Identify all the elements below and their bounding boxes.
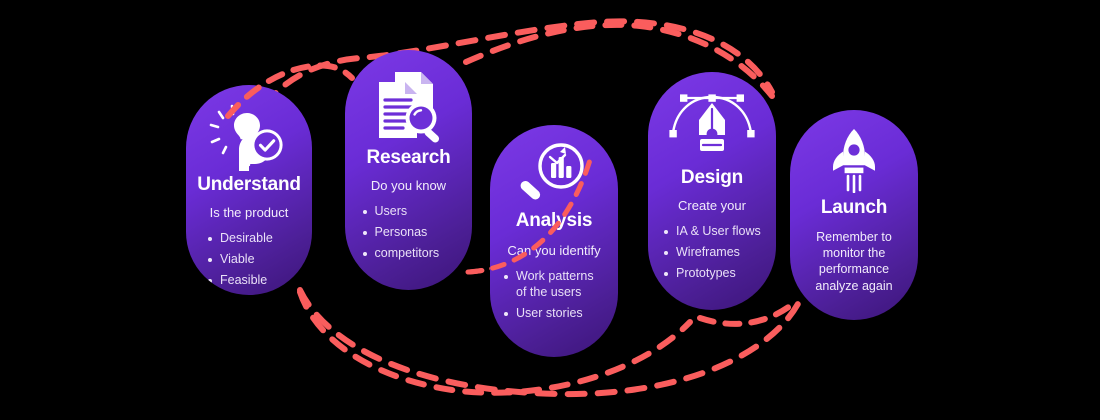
card-title: Analysis	[516, 211, 593, 232]
step-card-research[interactable]: Research Do you know Users Personas comp…	[345, 50, 472, 290]
list-item: Work patterns of the users	[502, 268, 606, 300]
card-title: Design	[681, 168, 743, 189]
lightbulb-head-check-icon	[186, 101, 312, 173]
card-title: Research	[367, 148, 451, 169]
magnifier-bar-chart-icon	[490, 143, 618, 205]
list-item: Desirable	[206, 230, 292, 246]
card-bullet-list: IA & User flows Wireframes Prototypes	[662, 223, 762, 281]
list-item: Feasible	[206, 272, 292, 288]
card-subtitle: Create your	[678, 198, 746, 214]
card-title: Launch	[821, 198, 887, 219]
list-item: competitors	[361, 245, 457, 261]
step-card-design[interactable]: Design Create your IA & User flows Wiref…	[648, 72, 776, 310]
list-item: IA & User flows	[662, 223, 762, 239]
list-item: User stories	[502, 305, 606, 321]
card-subtitle: Is the product	[210, 205, 289, 221]
card-subtitle: Do you know	[371, 178, 446, 194]
pen-nib-bezier-icon	[648, 88, 776, 166]
list-item: Users	[361, 203, 457, 219]
process-flow-diagram: Understand Is the product Desirable Viab…	[0, 0, 1100, 420]
card-bullet-list: Work patterns of the users User stories	[502, 268, 606, 321]
documents-magnifier-icon	[345, 68, 472, 146]
card-title: Understand	[197, 175, 301, 196]
list-item: Personas	[361, 224, 457, 240]
step-card-understand[interactable]: Understand Is the product Desirable Viab…	[186, 85, 312, 295]
step-card-launch[interactable]: Launch Remember to monitor the performan…	[790, 110, 918, 320]
card-paragraph: Remember to monitor the performance anal…	[804, 229, 904, 294]
card-subtitle: Can you identify	[507, 243, 600, 259]
card-bullet-list: Users Personas competitors	[361, 203, 457, 261]
list-item: Prototypes	[662, 265, 762, 281]
rocket-icon	[790, 126, 918, 194]
list-item: Wireframes	[662, 244, 762, 260]
step-card-analysis[interactable]: Analysis Can you identify Work patterns …	[490, 125, 618, 357]
card-bullet-list: Desirable Viable Feasible	[206, 230, 292, 288]
list-item: Viable	[206, 251, 292, 267]
